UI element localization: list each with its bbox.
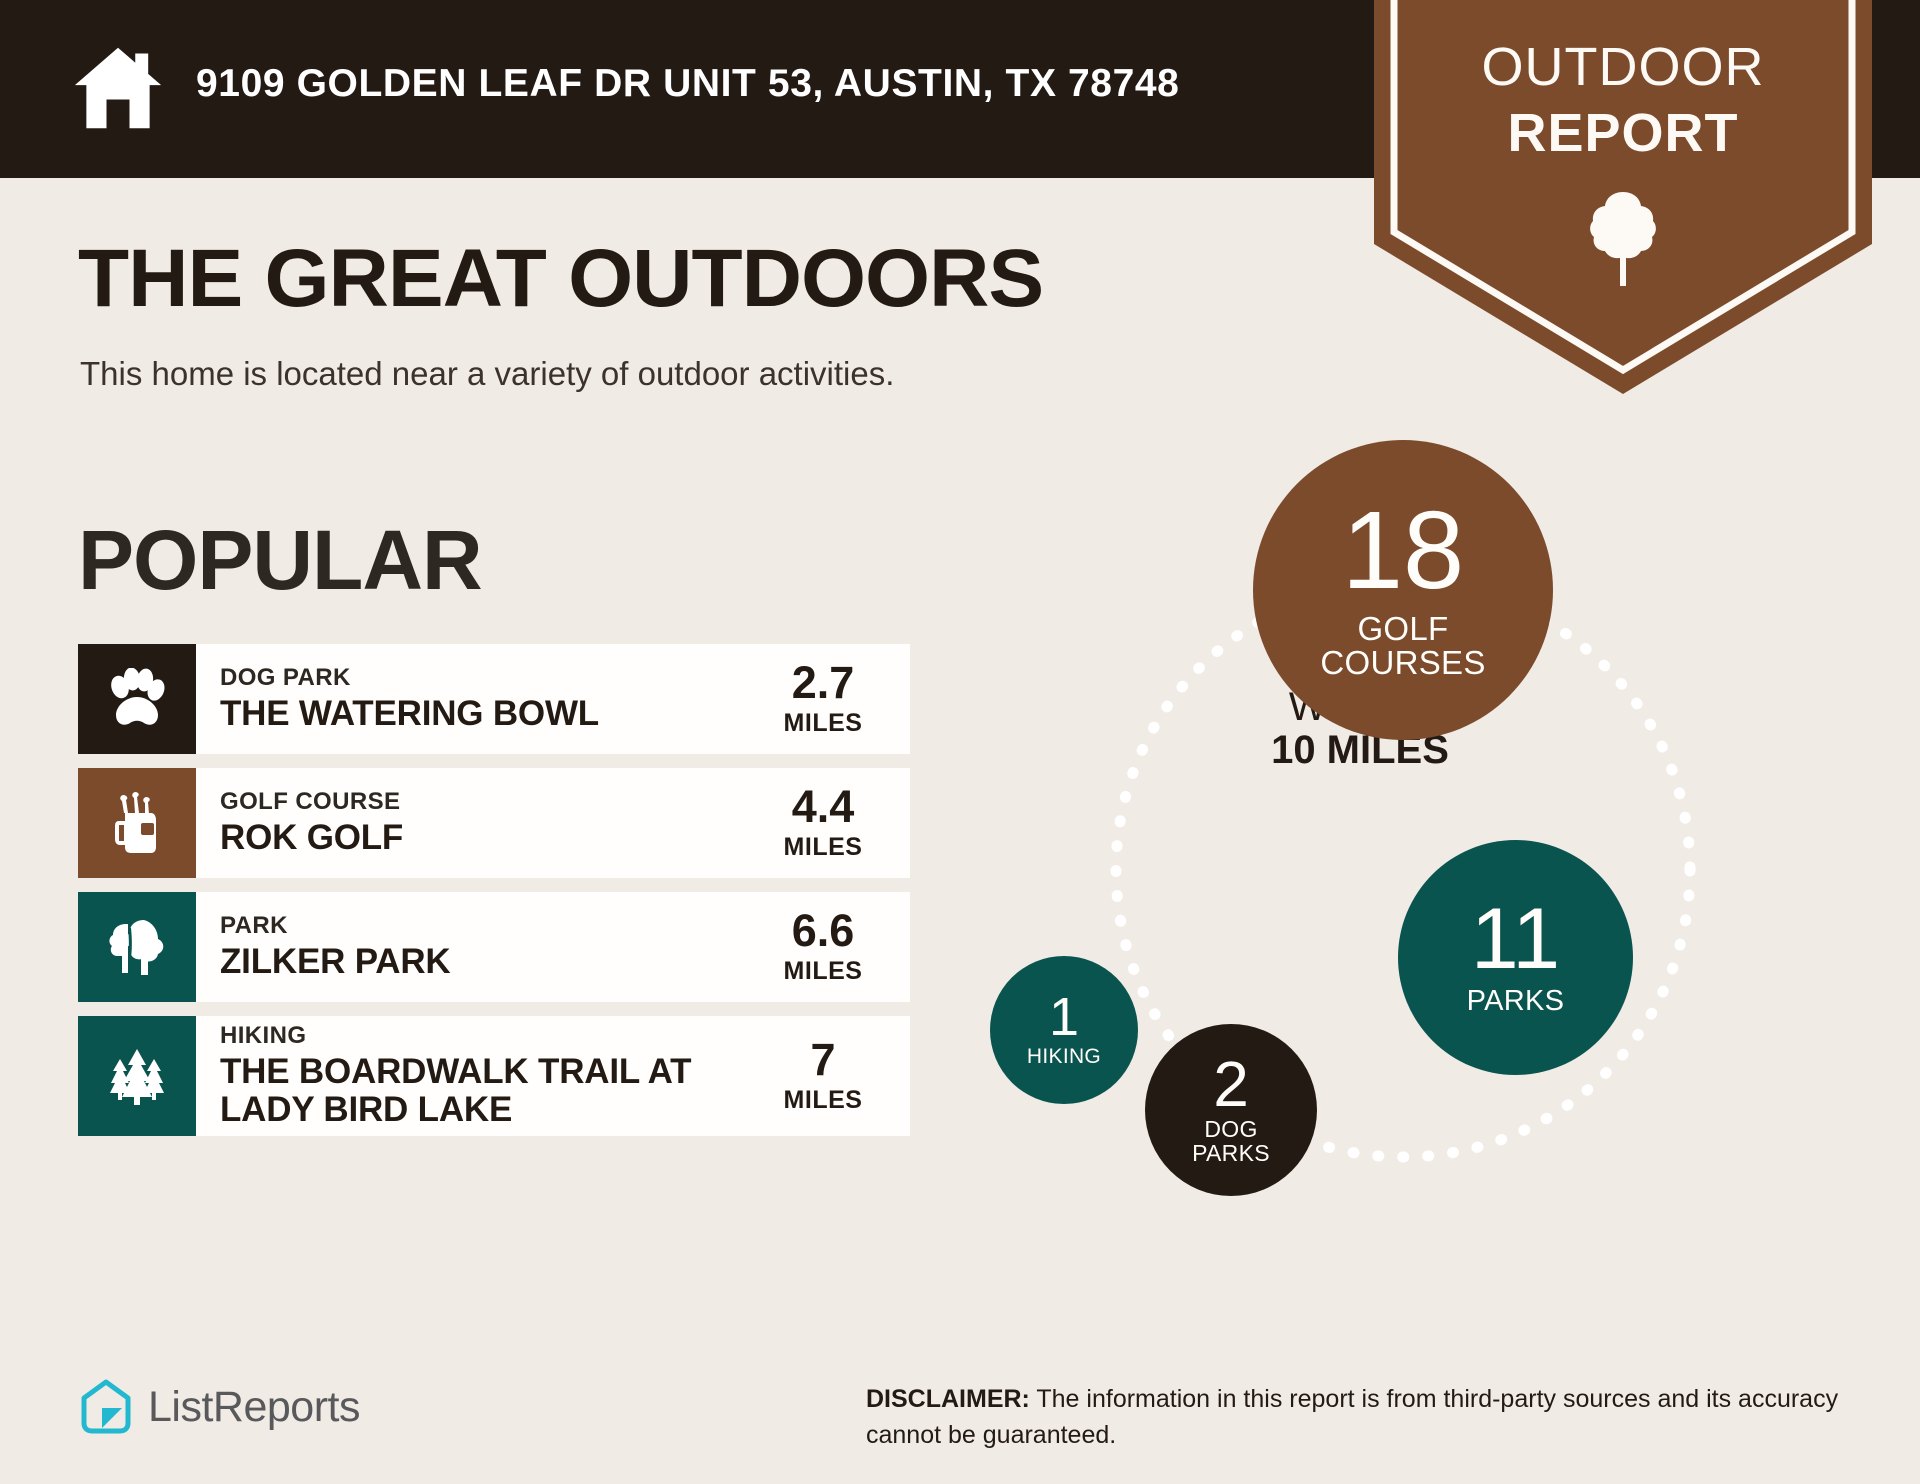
list-item-distance: 7 MILES [758, 1016, 910, 1136]
list-item-category: GOLF COURSE [220, 788, 750, 816]
list-item-icon-tile [78, 768, 196, 878]
list-item-text: PARK ZILKER PARK [196, 892, 758, 1002]
stat-label-line-1: DOG [1192, 1118, 1270, 1142]
stat-bubble-parks[interactable]: 11 PARKS [1398, 840, 1633, 1075]
listreports-house-icon [78, 1378, 134, 1436]
stat-label-line-1: GOLF [1320, 612, 1485, 646]
tree-icon [1589, 190, 1657, 286]
disclaimer: DISCLAIMER: The information in this repo… [866, 1382, 1878, 1453]
list-item[interactable]: DOG PARK THE WATERING BOWL 2.7 MILES [78, 644, 910, 754]
badge-line-1: OUTDOOR [1374, 36, 1872, 98]
list-item-distance: 4.4 MILES [758, 768, 910, 878]
stat-bubble-dog-parks[interactable]: 2 DOG PARKS [1145, 1024, 1317, 1196]
list-item-category: DOG PARK [220, 664, 750, 692]
listreports-logo[interactable]: ListReports [78, 1378, 360, 1436]
list-item-name: THE BOARDWALK TRAIL AT LADY BIRD LAKE [220, 1053, 750, 1130]
paw-icon [108, 668, 166, 730]
stat-value: 1 [1049, 992, 1079, 1043]
outdoor-report-badge: OUTDOOR REPORT [1374, 0, 1872, 414]
stat-label: PARKS [1467, 986, 1565, 1016]
stat-bubble-hiking[interactable]: 1 HIKING [990, 956, 1138, 1104]
house-icon [72, 42, 164, 134]
stat-value: 18 [1342, 499, 1464, 604]
distance-unit: MILES [784, 833, 863, 862]
list-item-icon-tile [78, 1016, 196, 1136]
distance-value: 6.6 [792, 908, 855, 953]
logo-text: ListReports [148, 1383, 360, 1432]
list-item-name: ZILKER PARK [220, 943, 750, 982]
stat-label-line-2: COURSES [1320, 646, 1485, 680]
list-item-text: GOLF COURSE ROK GOLF [196, 768, 758, 878]
distance-unit: MILES [784, 1086, 863, 1115]
center-label-line-2: 10 MILES [1200, 728, 1520, 772]
stat-label: HIKING [1027, 1046, 1101, 1068]
list-item-icon-tile [78, 644, 196, 754]
list-item-distance: 6.6 MILES [758, 892, 910, 1002]
within-10-miles-diagram: WITHIN 10 MILES 18 GOLF COURSES 11 PARKS… [1020, 415, 1920, 1335]
list-item-name: ROK GOLF [220, 819, 750, 858]
page-title: THE GREAT OUTDOORS [78, 232, 1043, 326]
distance-unit: MILES [784, 957, 863, 986]
popular-list: DOG PARK THE WATERING BOWL 2.7 MILES GOL… [78, 644, 910, 1150]
stat-value: 11 [1471, 899, 1560, 981]
stat-value: 2 [1213, 1054, 1249, 1115]
stat-label: GOLF COURSES [1320, 612, 1485, 681]
stat-bubble-golf-courses[interactable]: 18 GOLF COURSES [1253, 440, 1553, 740]
stat-label-line-2: PARKS [1192, 1142, 1270, 1166]
distance-value: 2.7 [792, 660, 855, 705]
page-subtitle: This home is located near a variety of o… [80, 355, 894, 393]
pine-trees-icon [106, 1045, 168, 1107]
property-address: 9109 GOLDEN LEAF DR UNIT 53, AUSTIN, TX … [196, 62, 1179, 106]
list-item-text: HIKING THE BOARDWALK TRAIL AT LADY BIRD … [196, 1016, 758, 1136]
distance-value: 7 [810, 1037, 835, 1082]
stat-label: DOG PARKS [1192, 1118, 1270, 1166]
disclaimer-label: DISCLAIMER: [866, 1385, 1030, 1413]
list-item-icon-tile [78, 892, 196, 1002]
list-item[interactable]: PARK ZILKER PARK 6.6 MILES [78, 892, 910, 1002]
golf-bag-icon [111, 791, 163, 855]
distance-unit: MILES [784, 709, 863, 738]
list-item[interactable]: GOLF COURSE ROK GOLF 4.4 MILES [78, 768, 910, 878]
list-item[interactable]: HIKING THE BOARDWALK TRAIL AT LADY BIRD … [78, 1016, 910, 1136]
list-item-distance: 2.7 MILES [758, 644, 910, 754]
badge-line-2: REPORT [1374, 102, 1872, 164]
list-item-category: HIKING [220, 1022, 750, 1050]
trees-icon [106, 918, 168, 976]
distance-value: 4.4 [792, 784, 855, 829]
list-item-name: THE WATERING BOWL [220, 695, 750, 734]
popular-heading: POPULAR [78, 512, 482, 609]
list-item-text: DOG PARK THE WATERING BOWL [196, 644, 758, 754]
list-item-category: PARK [220, 912, 750, 940]
